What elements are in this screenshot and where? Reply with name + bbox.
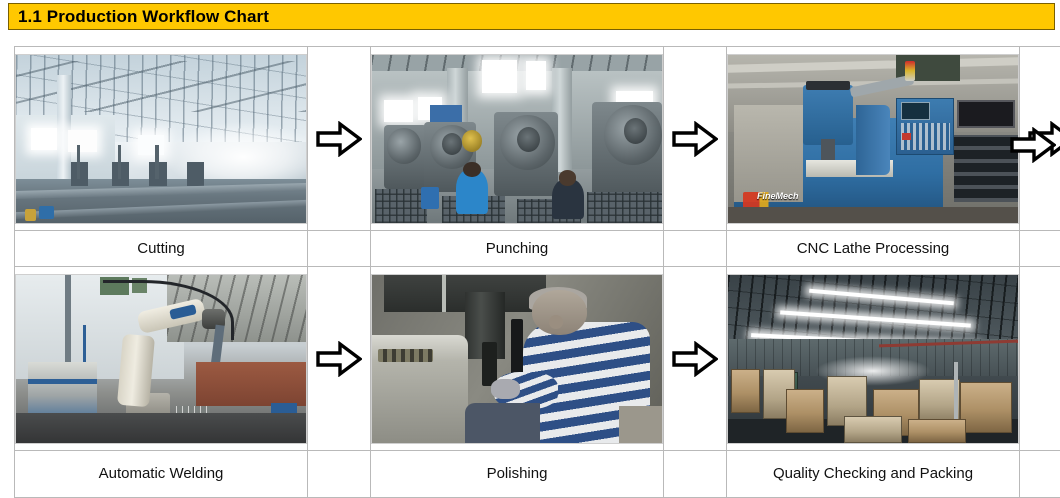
yellow-crate [25, 209, 37, 221]
arrow-right-icon [308, 121, 370, 157]
worker-glove [491, 379, 520, 399]
workflow-step-2-image-cell [371, 47, 664, 231]
workflow-arrow-cell-5 [664, 267, 727, 451]
worker-head [559, 170, 576, 185]
worker-trousers [465, 403, 540, 443]
workflow-step-3-image-cell: FineMech [727, 47, 1020, 231]
carton-stack [960, 382, 1012, 432]
caption-spacer-3 [1020, 231, 1060, 267]
workflow-arrow-cell-1 [308, 47, 371, 231]
worker-head [532, 290, 587, 335]
red-storage-crate [196, 362, 306, 406]
caption-spacer-4 [308, 451, 371, 498]
worker-head [463, 162, 480, 177]
photo-cnc-lathe: FineMech [727, 54, 1019, 224]
workflow-row-2-images [15, 267, 1060, 451]
worker-ear [549, 315, 564, 328]
metal-parts-on-bench [378, 349, 433, 362]
photo-polishing [371, 274, 663, 444]
brand-logo-text: FineMech [757, 191, 799, 201]
spindle-tool [821, 139, 836, 163]
workflow-arrow-cell-2 [664, 47, 727, 231]
cnc-display [901, 102, 930, 120]
stool [619, 406, 663, 443]
page-title: 1.1 Production Workflow Chart [9, 7, 269, 27]
workflow-arrow-cell-4 [308, 267, 371, 451]
workflow-row-1-images: FineMech [15, 47, 1060, 231]
photo-automatic-welding [15, 274, 307, 444]
flywheel-hub [624, 118, 647, 143]
warehouse-roof [728, 275, 1018, 342]
step-caption: Punching [371, 237, 663, 261]
workflow-step-6-caption-cell: Quality Checking and Packing [727, 451, 1020, 498]
cutting-machine [187, 162, 204, 186]
machine-rod [442, 275, 447, 312]
machine-cover-panel [734, 105, 804, 202]
spindle-head-cap [806, 81, 850, 89]
step-caption: Cutting [15, 237, 307, 261]
blue-drum [421, 187, 438, 209]
workflow-step-5-image-cell [371, 267, 664, 451]
machine-post [118, 145, 121, 179]
workflow-step-4-caption-cell: Automatic Welding [15, 451, 308, 498]
photo-punching [371, 54, 663, 224]
flywheel-hub [517, 127, 540, 152]
workflow-step-1-caption-cell: Cutting [15, 231, 308, 267]
workflow-row-2-captions: Automatic Welding Polishing Quality Chec… [15, 451, 1060, 498]
carton-stack [731, 369, 760, 413]
carton-stack [786, 389, 824, 433]
workflow-arrow-cell-6 [1020, 267, 1060, 451]
window-light [482, 60, 517, 94]
workshop-floor [728, 207, 1018, 222]
support-beam [65, 275, 71, 372]
workflow-step-5-caption-cell: Polishing [371, 451, 664, 498]
press-flywheel [387, 128, 422, 163]
caption-spacer-1 [308, 231, 371, 267]
caption-spacer-2 [664, 231, 727, 267]
carton-stack [844, 416, 902, 443]
emergency-stop-button [902, 133, 911, 140]
yellow-gear-guard [462, 130, 482, 152]
window-light [31, 128, 57, 150]
concrete-pillar [57, 75, 72, 179]
splash-guard [856, 105, 891, 176]
wire-parts-basket [375, 189, 427, 223]
window-light [138, 135, 164, 155]
cart-rail [28, 379, 98, 384]
window-light [384, 100, 413, 122]
workflow-row-1-captions: Cutting Punching CNC Lathe Processing [15, 231, 1060, 267]
photo-quality-checking-packing [727, 274, 1019, 444]
window-light [68, 130, 97, 152]
robot-lower-arm [117, 334, 155, 407]
workflow-step-6-image-cell [727, 267, 1020, 451]
workflow-step-2-caption-cell: Punching [371, 231, 664, 267]
carton-stack [908, 419, 966, 443]
window-light [526, 61, 546, 90]
caption-spacer-6 [1020, 451, 1060, 498]
blue-barrel [39, 206, 54, 219]
support-pole [954, 362, 957, 419]
step-caption: Quality Checking and Packing [727, 462, 1019, 486]
step-caption: Automatic Welding [15, 462, 307, 486]
arrow-right-icon [664, 121, 726, 157]
arrow-right-icon [308, 341, 370, 377]
workflow-step-3-caption-cell: CNC Lathe Processing [727, 231, 1020, 267]
section-header-bar: 1.1 Production Workflow Chart [8, 3, 1055, 30]
arrow-right-icon-trailing [1004, 122, 1060, 168]
arrow-right-icon [664, 341, 726, 377]
flywheel-hub [442, 133, 462, 155]
workshop-floor [16, 413, 306, 443]
drill-quill [482, 342, 497, 386]
production-workflow-table: FineMech Cutting Punching [14, 46, 1060, 498]
wire-parts-basket [587, 192, 662, 222]
step-caption: CNC Lathe Processing [727, 237, 1019, 261]
caption-spacer-5 [664, 451, 727, 498]
machine-post [77, 145, 80, 179]
step-caption: Polishing [371, 462, 663, 486]
spindle-head [803, 85, 852, 145]
machine-bar [511, 319, 523, 376]
machine-post [155, 145, 158, 179]
photo-cutting [15, 54, 307, 224]
workflow-step-4-image-cell [15, 267, 308, 451]
status-tower-light [905, 61, 915, 81]
workflow-step-1-image-cell [15, 47, 308, 231]
